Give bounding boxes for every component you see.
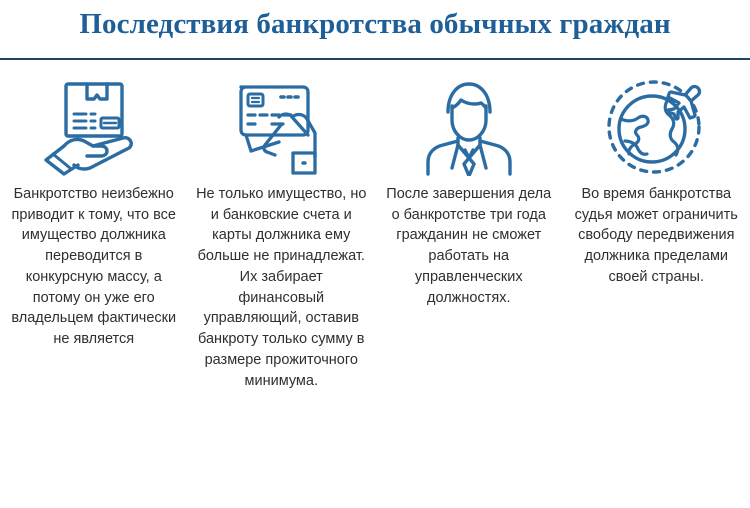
info-column-3: После завершения дела о банкротстве три … xyxy=(375,76,563,391)
info-column-2-text: Не только имущество, но и банковские сче… xyxy=(196,184,368,391)
info-column-3-text: После завершения дела о банкротстве три … xyxy=(383,184,555,308)
info-columns: Банкротство неизбежно приводит к тому, ч… xyxy=(0,60,750,391)
page-header: Последствия банкротства обычных граждан xyxy=(0,0,750,58)
page-title: Последствия банкротства обычных граждан xyxy=(79,9,670,41)
info-column-1-text: Банкротство неизбежно приводит к тому, ч… xyxy=(8,184,180,350)
globe-with-airplane-icon xyxy=(597,76,715,176)
info-column-4: Во время банкротства судья может огранич… xyxy=(563,76,750,391)
info-column-4-text: Во время банкротства судья может огранич… xyxy=(571,184,743,288)
businessman-icon xyxy=(410,76,528,176)
info-column-1: Банкротство неизбежно приводит к тому, ч… xyxy=(0,76,188,391)
info-column-2: Не только имущество, но и банковские сче… xyxy=(188,76,376,391)
hand-with-credit-card-icon xyxy=(221,76,341,176)
box-in-hand-icon xyxy=(34,76,154,176)
